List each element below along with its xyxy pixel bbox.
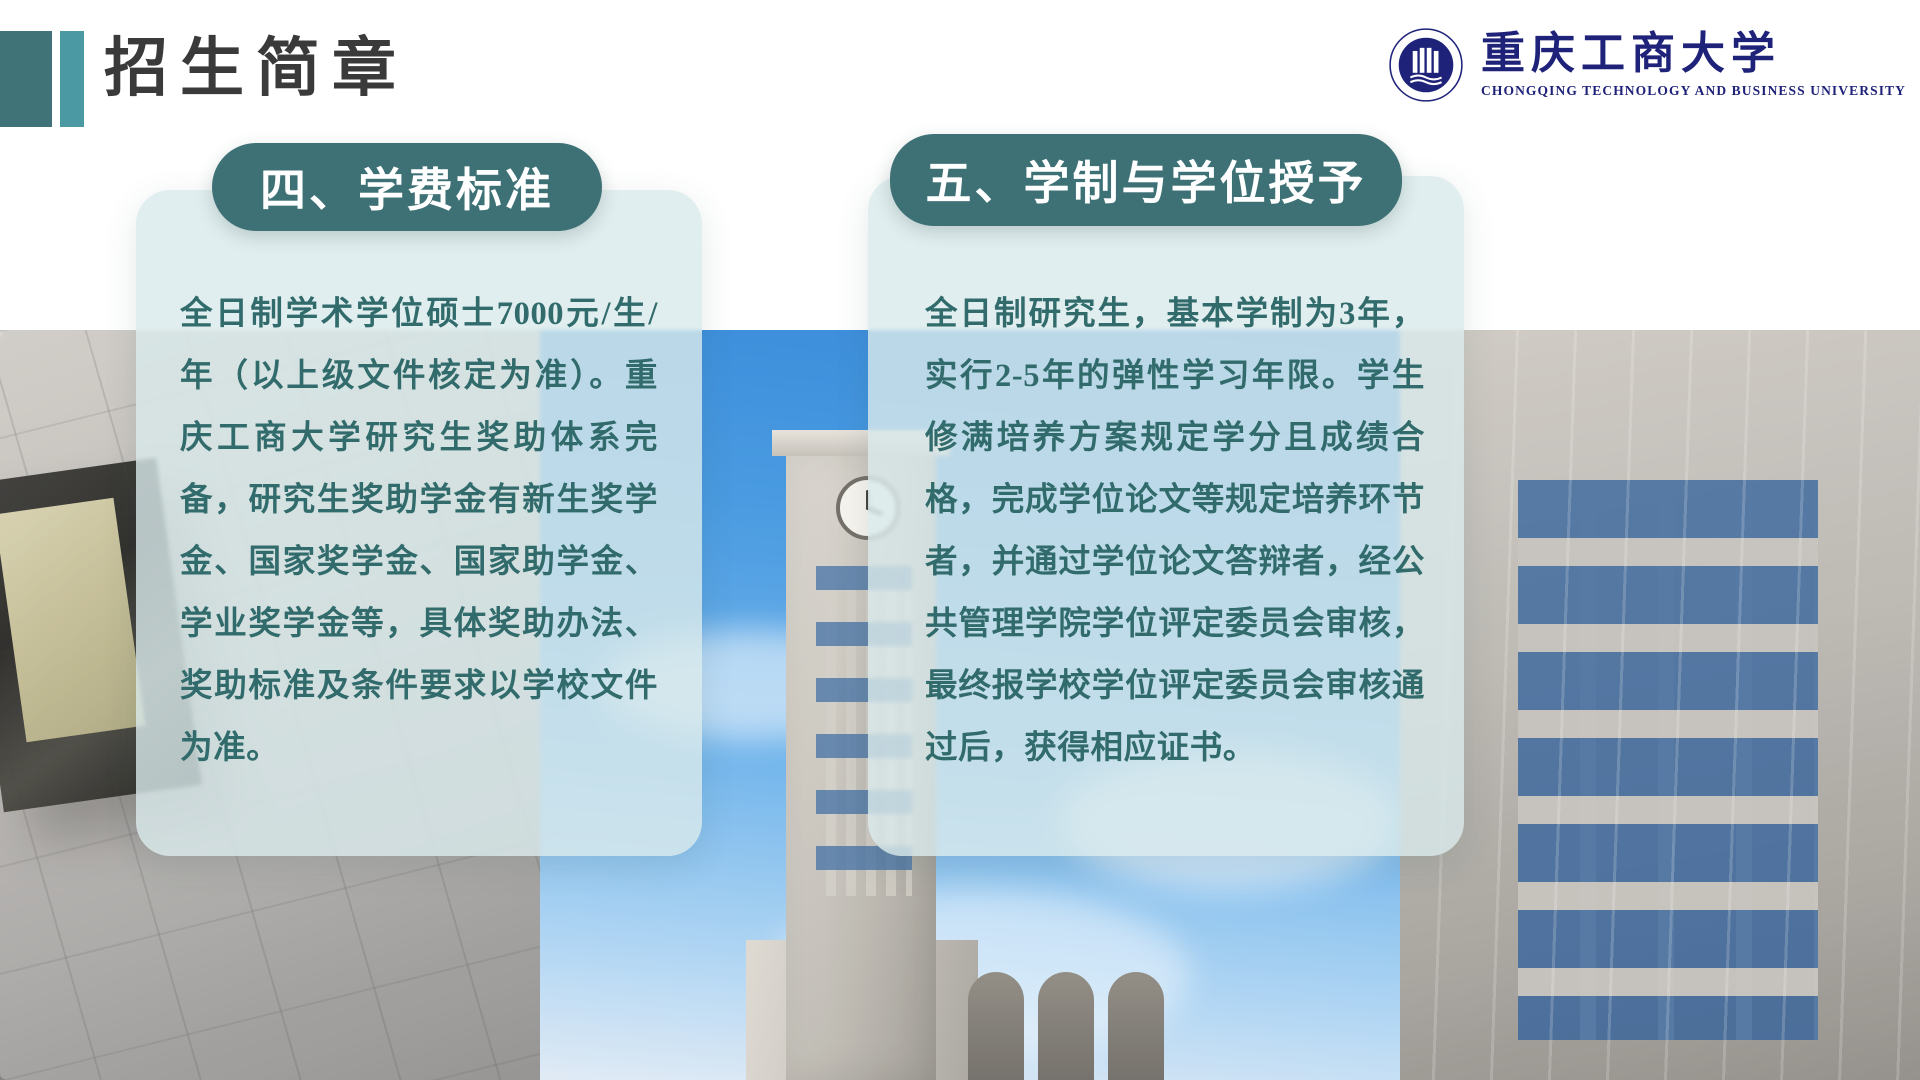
card-body-degree-system: 全日制研究生，基本学制为3年，实行2-5年的弹性学习年限。学生修满培养方案规定学… (925, 283, 1425, 779)
card-heading-tuition: 四、学费标准 (212, 143, 602, 231)
slide-canvas: 招生简章 重庆工商大学 CHONGQING TECHNOLOGY AND BUS… (0, 0, 1920, 1080)
header-accent-bar-light (60, 31, 84, 127)
logo-english-name: CHONGQING TECHNOLOGY AND BUSINESS UNIVER… (1481, 83, 1906, 99)
university-crest-icon (1387, 26, 1465, 104)
page-title: 招生简章 (104, 26, 408, 112)
logo-text-block: 重庆工商大学 CHONGQING TECHNOLOGY AND BUSINESS… (1481, 31, 1906, 98)
university-logo: 重庆工商大学 CHONGQING TECHNOLOGY AND BUSINESS… (1387, 26, 1906, 104)
header-accent-bar-dark (0, 31, 52, 127)
card-body-tuition: 全日制学术学位硕士7000元/生/年（以上级文件核定为准）。重庆工商大学研究生奖… (180, 283, 658, 779)
logo-chinese-name: 重庆工商大学 (1481, 31, 1781, 77)
card-heading-degree-system: 五、学制与学位授予 (890, 134, 1402, 226)
